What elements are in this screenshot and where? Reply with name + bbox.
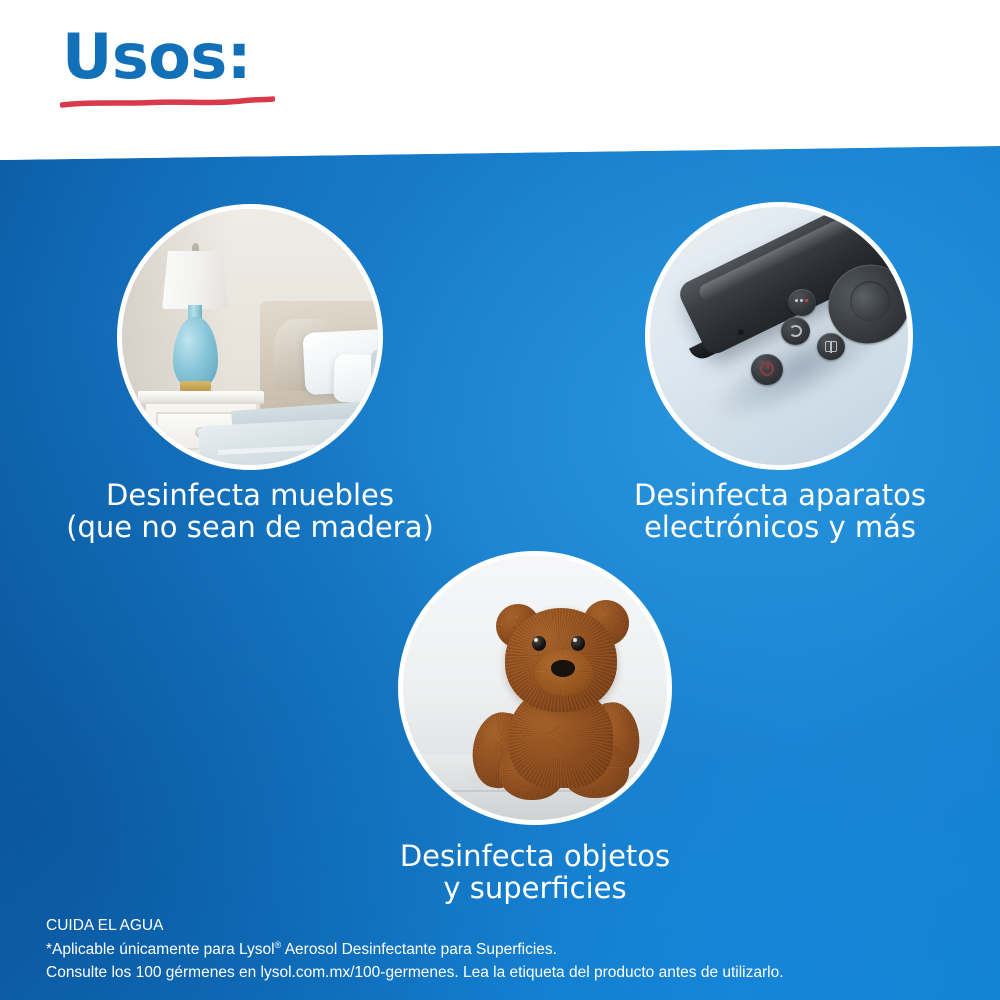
- poster-canvas: Usos:: [0, 0, 1000, 1000]
- use-image-objects: [398, 551, 672, 825]
- page-title: Usos:: [62, 26, 251, 88]
- bear-right-eye-highlight: [573, 638, 577, 642]
- bear-nose: [551, 660, 575, 677]
- tv-remote-control-photo: [650, 207, 908, 465]
- use-image-furniture: [117, 204, 383, 470]
- footer-line-cuida-el-agua: CUIDA EL AGUA: [46, 914, 966, 938]
- bear-left-eye-highlight: [534, 638, 538, 642]
- remote-menu-dots-icon: [795, 299, 809, 302]
- teddy-bear-photo: [403, 556, 667, 820]
- page-title-wrapper: Usos:: [62, 26, 251, 88]
- use-image-electronics: [645, 202, 913, 470]
- remote-menu-button: [788, 289, 816, 316]
- power-icon: [760, 362, 774, 376]
- title-underline-stroke: [60, 96, 275, 110]
- caption-electronics: Desinfecta aparatos electrónicos y más: [575, 479, 985, 544]
- remote-ir-sensor: [738, 329, 744, 335]
- footer-line-consulte: Consulte los 100 gérmenes en lysol.com.m…: [46, 961, 966, 985]
- caption-furniture: Desinfecta muebles (que no sean de mader…: [20, 479, 480, 544]
- pillow-side: [371, 349, 378, 405]
- nightstand-top: [138, 391, 264, 404]
- bedroom-furniture-photo: [122, 209, 378, 465]
- footer-aplicable-prefix: *Aplicable únicamente para Lysol: [46, 941, 275, 958]
- grid-icon: [825, 341, 837, 352]
- footer-line-aplicable: *Aplicable únicamente para Lysol® Aeroso…: [46, 938, 966, 962]
- back-arrow-icon: [789, 325, 802, 337]
- lamp-finial: [192, 243, 199, 252]
- caption-objects: Desinfecta objetos y superficies: [320, 840, 750, 905]
- footer-legal-text: CUIDA EL AGUA *Aplicable únicamente para…: [46, 914, 966, 985]
- footer-aplicable-suffix: Aerosol Desinfectante para Superficies.: [281, 941, 557, 958]
- lamp-shade: [162, 251, 228, 309]
